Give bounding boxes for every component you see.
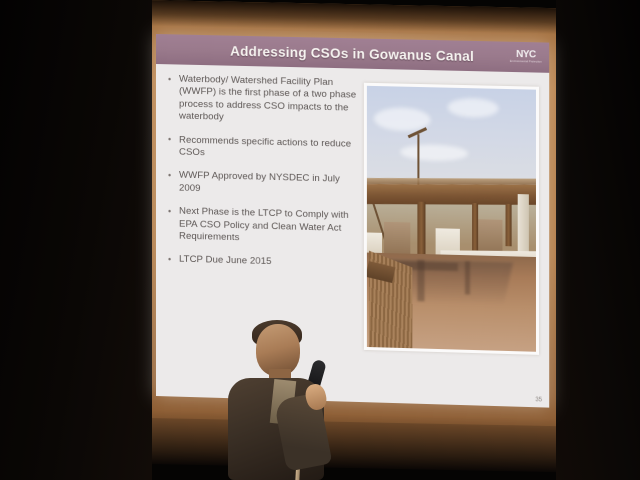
canal-photo (367, 86, 536, 352)
auditorium-dark-left (0, 0, 152, 480)
nyc-logo-mark: NYC (516, 50, 536, 61)
auditorium-dark-right (556, 0, 640, 480)
list-item: WWFP Approved by NYSDEC in July 2009 (166, 170, 358, 200)
viaduct-pier (472, 203, 479, 250)
viaduct-pier (505, 204, 511, 246)
list-item: LTCP Due June 2015 (166, 254, 358, 272)
presenter (214, 322, 340, 480)
nyc-dep-logo: NYC Environmental Protection (509, 46, 544, 69)
list-item: Next Phase is the LTCP to Comply with EP… (166, 206, 358, 248)
industrial-tower (517, 194, 529, 257)
slide-photo-column: 35 (362, 69, 549, 408)
slide-title: Addressing CSOs in Gowanus Canal (230, 43, 474, 63)
bullet-list: Waterbody/ Watershed Facility Plan (WWFP… (166, 73, 358, 271)
nyc-logo-subtitle: Environmental Protection (510, 61, 542, 64)
cloud (448, 98, 499, 117)
slide-number: 35 (535, 397, 542, 403)
viaduct-pier (417, 202, 425, 255)
water-reflection (465, 261, 470, 295)
list-item: Waterbody/ Watershed Facility Plan (WWFP… (166, 73, 358, 127)
expressway-viaduct (367, 184, 536, 204)
canal-photo-frame (364, 83, 539, 355)
wall-lower-shadow (150, 418, 560, 472)
list-item: Recommends specific actions to reduce CS… (166, 134, 358, 164)
presentation-photo-scene: Addressing CSOs in Gowanus Canal NYC Env… (0, 0, 640, 480)
